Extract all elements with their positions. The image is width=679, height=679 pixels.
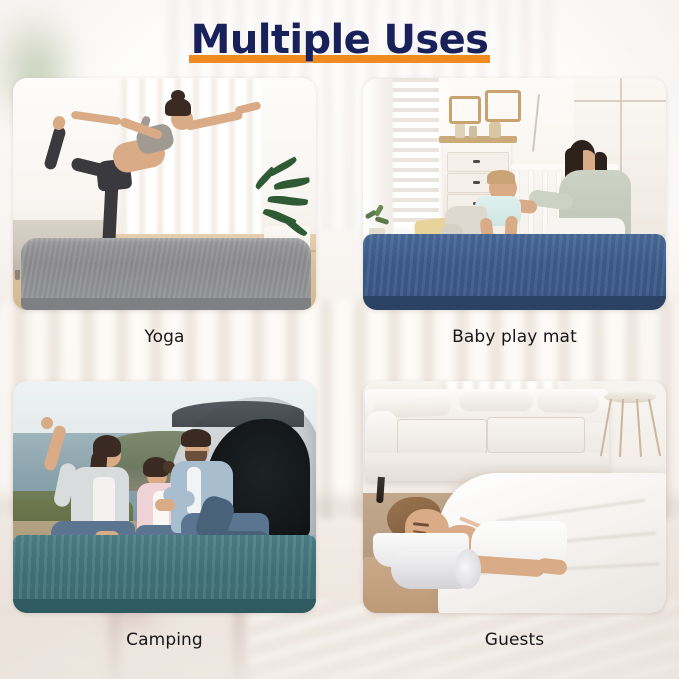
panel-camping: Camping: [13, 381, 316, 651]
panel-yoga: Yoga: [13, 78, 316, 348]
panel-caption-yoga: Yoga: [13, 326, 316, 348]
panel-caption-camping: Camping: [13, 629, 316, 651]
panel-baby-photo: [363, 78, 666, 310]
panel-yoga-photo: [13, 78, 316, 310]
title-text: Multiple Uses: [191, 17, 489, 63]
page-title: Multiple Uses: [0, 14, 679, 68]
panel-camping-photo: [13, 381, 316, 613]
panel-baby-play-mat: Baby play mat: [363, 78, 666, 348]
infographic-root: Multiple Uses: [0, 0, 679, 679]
panel-caption-guests: Guests: [363, 629, 666, 651]
panel-grid: Yoga: [13, 78, 666, 663]
panel-guests: Guests: [363, 381, 666, 651]
panel-guests-photo: [363, 381, 666, 613]
panel-caption-baby-play-mat: Baby play mat: [363, 326, 666, 348]
